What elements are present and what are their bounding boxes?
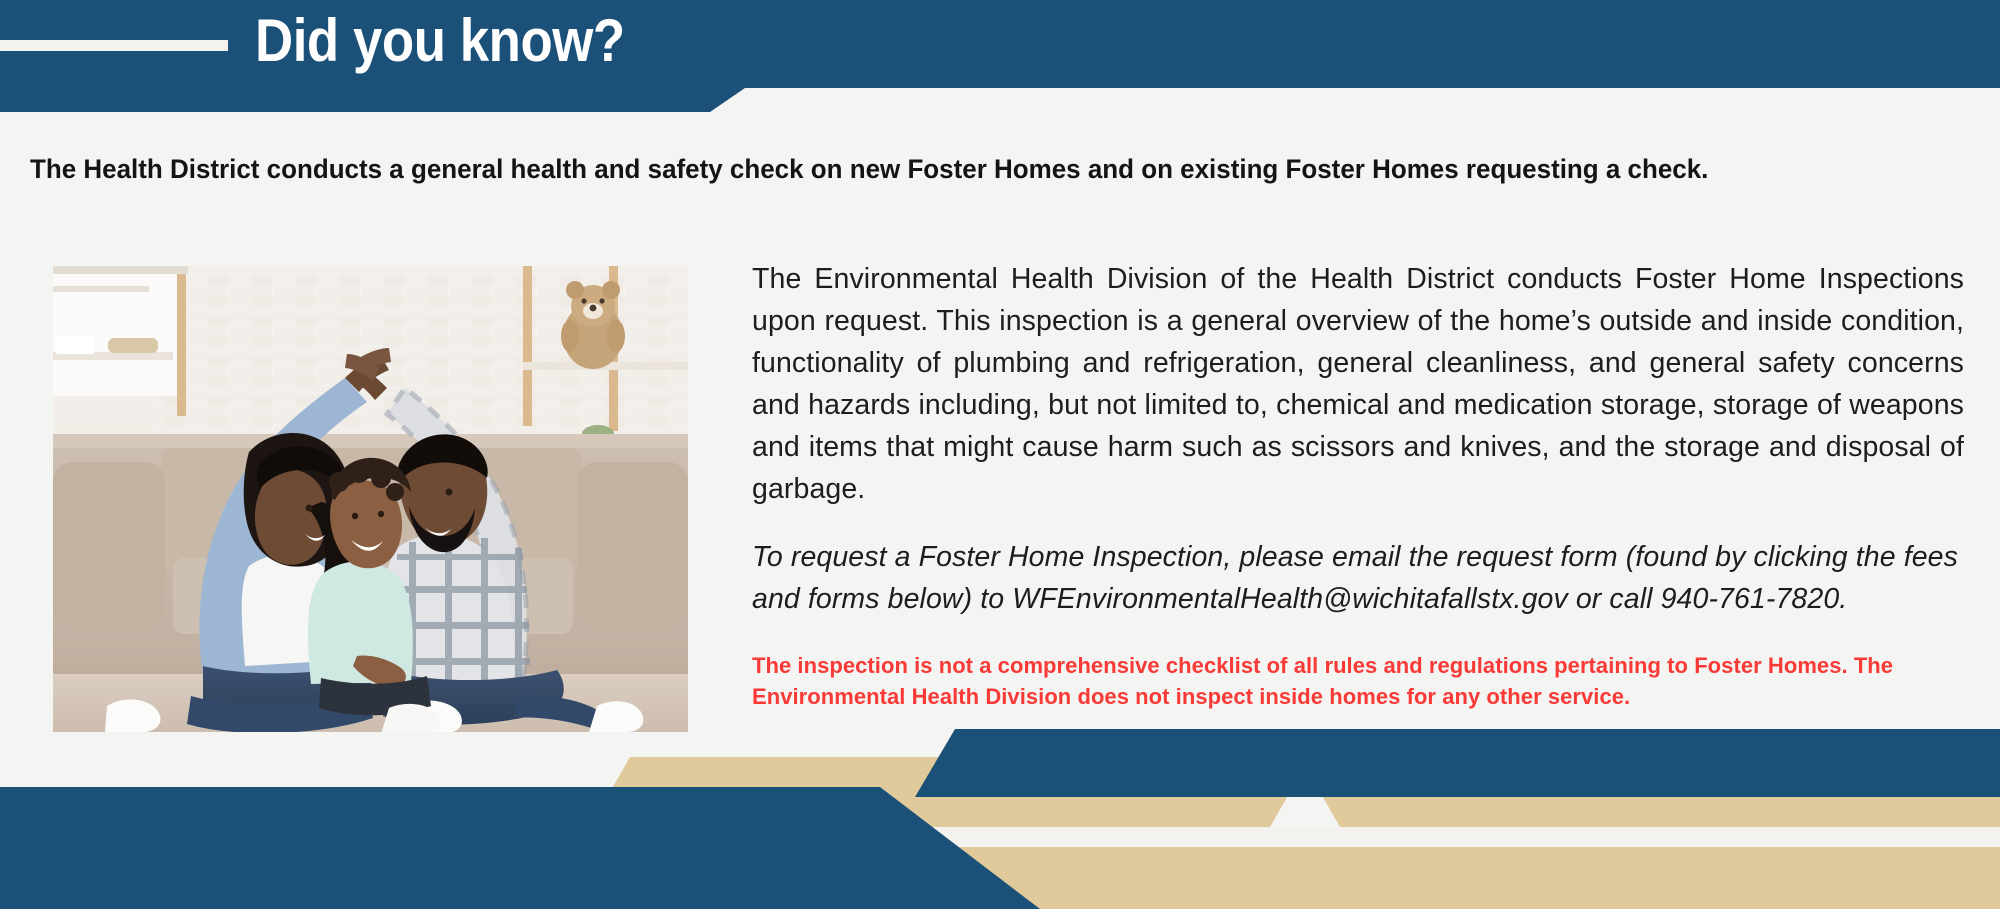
bottom-decoration (0, 729, 2000, 909)
header-lower-notch (0, 88, 745, 112)
request-instructions: To request a Foster Home Inspection, ple… (752, 536, 1964, 620)
page-title: Did you know? (255, 2, 625, 80)
header-rule-icon (0, 40, 228, 51)
did-you-know-infographic: Did you know? The Health District conduc… (0, 0, 2000, 909)
body-paragraph: The Environmental Health Division of the… (752, 258, 1964, 510)
blue-notch-right (915, 729, 2000, 797)
lead-statement: The Health District conducts a general h… (30, 152, 1931, 186)
body-content: The Environmental Health Division of the… (752, 258, 1964, 712)
blue-lower-slab (0, 787, 1040, 909)
family-photo (53, 266, 688, 732)
warning-note: The inspection is not a comprehensive ch… (752, 650, 1964, 712)
